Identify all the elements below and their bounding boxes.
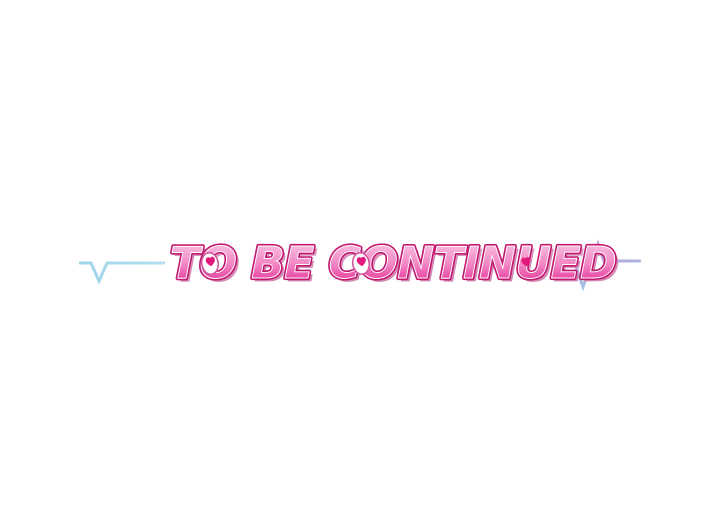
canvas: TO BE CONTINUED TO BE CONTINUED TO BE CO… [0, 0, 720, 529]
wordart-text: TO BE CONTINUED TO BE CONTINUED TO BE CO… [169, 229, 555, 301]
wordart-fill-layer: TO BE CONTINUED [170, 238, 616, 289]
to-be-continued-banner: TO BE CONTINUED TO BE CONTINUED TO BE CO… [0, 229, 720, 301]
flatline-dip-icon [79, 241, 165, 289]
